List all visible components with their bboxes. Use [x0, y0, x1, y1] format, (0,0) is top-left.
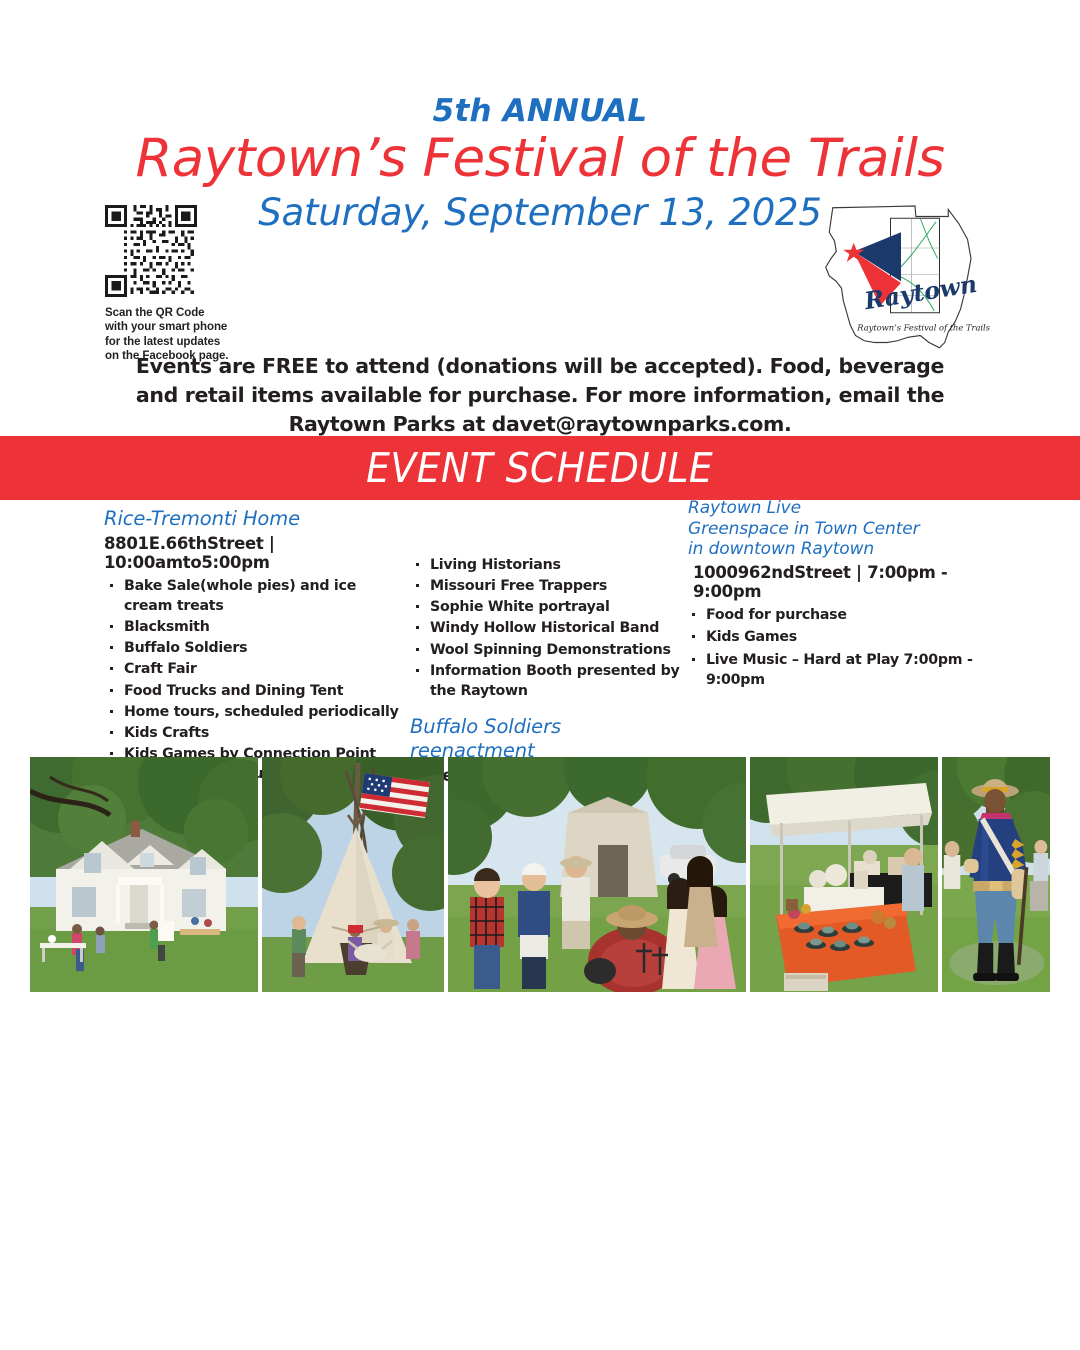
raytown-festival-logo: Raytown Raytown’s Festival of the Trails	[817, 196, 992, 356]
list-item-label: Kids Games	[706, 629, 797, 645]
list-item: Home tours, scheduled periodically	[104, 702, 404, 722]
bullet-icon	[110, 710, 113, 713]
list-item-label: Food Trucks and Dining Tent	[124, 683, 343, 699]
photo-strip	[30, 757, 1050, 992]
header: 5th ANNUAL Raytown’s Festival of the Tra…	[0, 0, 1080, 436]
qr-code-icon[interactable]	[105, 205, 197, 297]
list-item: Craft Fair	[104, 659, 404, 679]
list-item-label: Missouri Free Trappers	[430, 578, 607, 594]
list-item: Kids Games	[688, 627, 988, 647]
photo-craft-vendor-tent	[750, 757, 938, 992]
bullet-icon	[692, 613, 695, 616]
bullet-icon	[110, 689, 113, 692]
rice-tremonti-list: Bake Sale(whole pies) and ice cream trea…	[104, 576, 404, 785]
list-item-label: Home tours, scheduled periodically	[124, 704, 399, 720]
intro-paragraph: Events are FREE to attend (donations wil…	[130, 352, 950, 439]
list-item-label: Craft Fair	[124, 661, 197, 677]
list-item-label: Living Historians	[430, 557, 561, 573]
photo-teepee-american-flag	[262, 757, 444, 992]
rice-tremonti-details: 8801E.66thStreet | 10:00amto5:00pm	[104, 534, 404, 572]
bullet-icon	[110, 625, 113, 628]
schedule-column-activities: Living Historians Missouri Free Trappers…	[410, 555, 685, 789]
bullet-icon	[110, 752, 113, 755]
schedule-column-raytown-live: Raytown Live Greenspace in Town Center i…	[688, 498, 988, 692]
qr-caption-line-1: Scan the QR Code	[105, 306, 270, 320]
buffalo-soldiers-title: Buffalo Soldiers reenactment	[410, 715, 685, 763]
activities-list: Living Historians Missouri Free Trappers…	[410, 555, 685, 701]
bullet-icon	[692, 658, 695, 661]
qr-caption-line-2: with your smart phone	[105, 320, 270, 334]
bullet-icon	[110, 667, 113, 670]
bullet-icon	[416, 563, 419, 566]
event-schedule-banner: EVENT SCHEDULE	[0, 436, 1080, 500]
bullet-icon	[110, 646, 113, 649]
raytown-live-title-line-1: Raytown Live	[688, 498, 988, 519]
qr-caption-line-3: for the latest updates	[105, 335, 270, 349]
list-item-label: Blacksmith	[124, 619, 210, 635]
photo-reenactors-crowd	[448, 757, 746, 992]
list-item-label: Buffalo Soldiers	[124, 640, 247, 656]
list-item: Information Booth presented by the Rayto…	[410, 661, 685, 701]
event-schedule-title: EVENT SCHEDULE	[366, 448, 713, 489]
list-item-label: Live Music – Hard at Play 7:00pm - 9:00p…	[706, 652, 973, 688]
bullet-icon	[692, 635, 695, 638]
schedule-column-rice-tremonti: Rice-Tremonti Home 8801E.66thStreet | 10…	[104, 507, 404, 785]
bullet-icon	[416, 626, 419, 629]
list-item: Buffalo Soldiers	[104, 638, 404, 658]
photo-buffalo-soldier	[942, 757, 1050, 992]
bullet-icon	[416, 669, 419, 672]
list-item-label: Food for purchase	[706, 607, 847, 623]
list-item-label: Sophie White portrayal	[430, 599, 610, 615]
page-title: Raytown’s Festival of the Trails	[0, 131, 1080, 187]
list-item: Food Trucks and Dining Tent	[104, 681, 404, 701]
raytown-live-list: Food for purchase Kids Games Live Music …	[688, 605, 988, 690]
missouri-map-logo-icon: Raytown Raytown’s Festival of the Trails	[817, 196, 992, 356]
bullet-icon	[110, 731, 113, 734]
list-item: Windy Hollow Historical Band	[410, 618, 685, 638]
raytown-live-title-line-3: in downtown Raytown	[688, 539, 988, 560]
list-item: Live Music – Hard at Play 7:00pm - 9:00p…	[688, 650, 988, 690]
bullet-icon	[416, 584, 419, 587]
list-item: Living Historians	[410, 555, 685, 575]
logo-tagline: Raytown’s Festival of the Trails	[856, 322, 990, 332]
list-item-label: Information Booth presented by the Rayto…	[430, 663, 680, 699]
bullet-icon	[416, 605, 419, 608]
bullet-icon	[416, 648, 419, 651]
schedule-section: Rice-Tremonti Home 8801E.66thStreet | 10…	[0, 500, 1080, 750]
qr-block: Scan the QR Code with your smart phone f…	[105, 205, 270, 364]
raytown-live-details: 1000962ndStreet | 7:00pm - 9:00pm	[693, 563, 988, 601]
list-item-label: Wool Spinning Demonstrations	[430, 642, 671, 658]
flyer-page: 5th ANNUAL Raytown’s Festival of the Tra…	[0, 0, 1080, 1350]
rice-tremonti-title: Rice-Tremonti Home	[104, 507, 404, 531]
list-item: Kids Crafts	[104, 723, 404, 743]
list-item-label: Kids Crafts	[124, 725, 209, 741]
raytown-live-title-line-2: Greenspace in Town Center	[688, 519, 988, 540]
annual-label: 5th ANNUAL	[0, 96, 1080, 127]
list-item: Missouri Free Trappers	[410, 576, 685, 596]
list-item-label: Windy Hollow Historical Band	[430, 620, 659, 636]
list-item: Bake Sale(whole pies) and ice cream trea…	[104, 576, 404, 616]
list-item: Blacksmith	[104, 617, 404, 637]
bullet-icon	[110, 584, 113, 587]
list-item: Wool Spinning Demonstrations	[410, 640, 685, 660]
list-item: Sophie White portrayal	[410, 597, 685, 617]
list-item-label: Bake Sale(whole pies) and ice cream trea…	[124, 578, 356, 614]
photo-rice-tremonti-house	[30, 757, 258, 992]
list-item: Food for purchase	[688, 605, 988, 625]
